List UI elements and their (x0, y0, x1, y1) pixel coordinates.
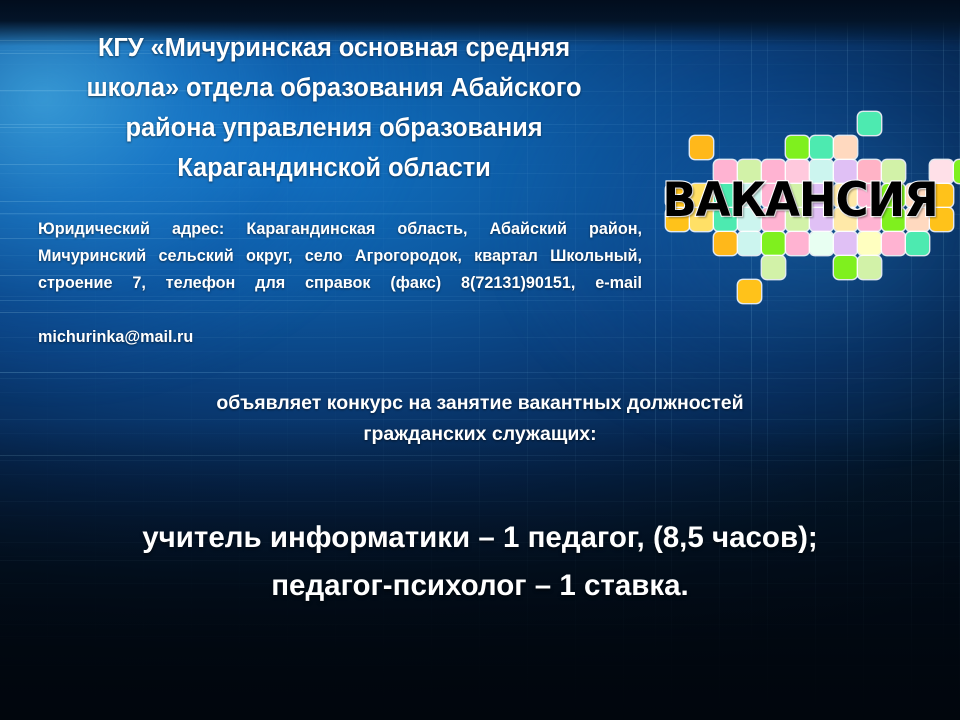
mosaic-cell (882, 232, 905, 255)
mosaic-cell (810, 232, 833, 255)
title-line-2: школа» отдела образования Абайского (34, 68, 634, 108)
mosaic-cell (762, 256, 785, 279)
mosaic-cell (786, 232, 809, 255)
announcement-line-2: гражданских служащих: (60, 419, 900, 450)
mosaic-cell (690, 136, 713, 159)
mosaic-cell (834, 136, 857, 159)
mosaic-cell (762, 232, 785, 255)
title-line-1: КГУ «Мичуринская основная средняя (34, 28, 634, 68)
mosaic-cell (906, 232, 929, 255)
title-line-3: района управления образования (34, 108, 634, 148)
vacancy-headline-text: ВАКАНСИЯ (662, 170, 937, 232)
mosaic-cell (714, 232, 737, 255)
vacancy-headline-graphic: ВАКАНСИЯ (656, 170, 944, 232)
vacancy-item-2: педагог-психолог – 1 ставка. (40, 562, 920, 610)
mosaic-cell (738, 280, 761, 303)
mosaic-cell (834, 256, 857, 279)
mosaic-cell (858, 112, 881, 135)
presentation-slide: КГУ «Мичуринская основная средняя школа»… (0, 0, 960, 720)
announcement-line-1: объявляет конкурс на занятие вакантных д… (60, 388, 900, 419)
mosaic-cell (738, 232, 761, 255)
mosaic-cell (954, 160, 960, 183)
vacancy-list: учитель информатики – 1 педагог, (8,5 ча… (40, 514, 920, 610)
announcement-block: объявляет конкурс на занятие вакантных д… (60, 388, 900, 450)
title-line-4: Карагандинской области (34, 148, 634, 188)
mosaic-cell (834, 232, 857, 255)
email-address: michurinka@mail.ru (38, 324, 642, 351)
mosaic-cell (858, 232, 881, 255)
legal-address-text: Юридический адрес: Карагандинская област… (38, 216, 642, 324)
legal-address-block: Юридический адрес: Карагандинская област… (38, 216, 642, 351)
vacancy-item-1: учитель информатики – 1 педагог, (8,5 ча… (40, 514, 920, 562)
mosaic-cell (810, 136, 833, 159)
mosaic-cell (858, 256, 881, 279)
page-title: КГУ «Мичуринская основная средняя школа»… (34, 28, 634, 188)
mosaic-cell (786, 136, 809, 159)
